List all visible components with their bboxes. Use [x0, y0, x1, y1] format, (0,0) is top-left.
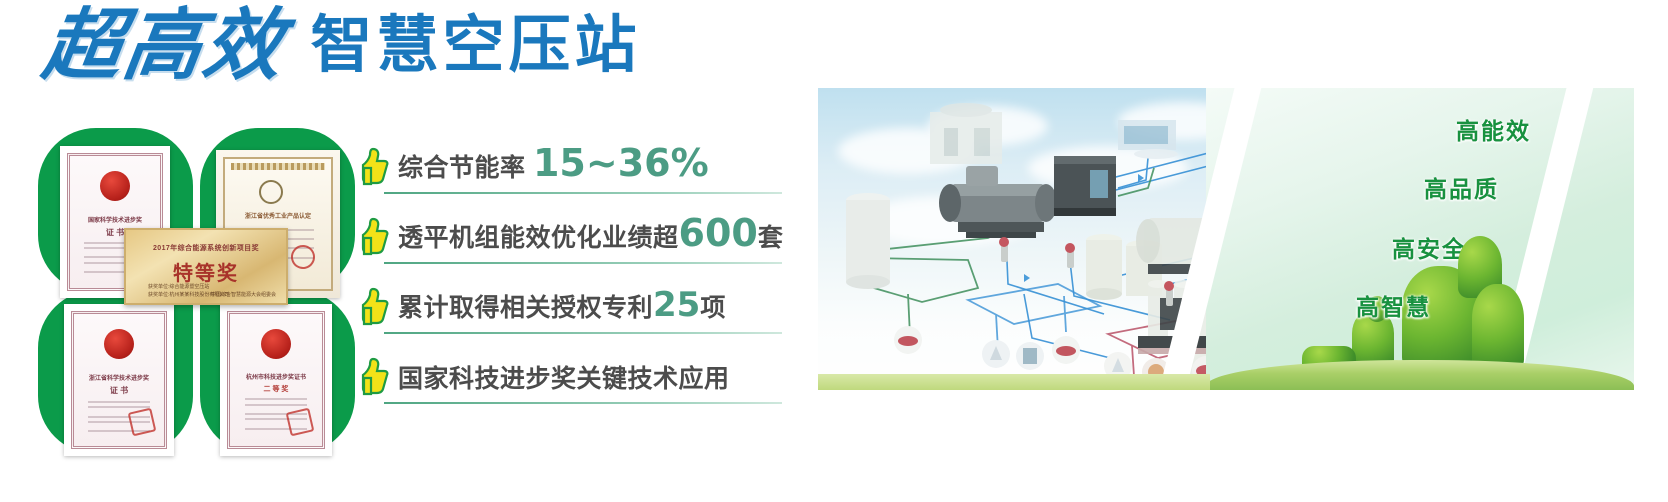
air-compressor-station-diagram: 高能效 高品质 高安全 高智慧 — [818, 88, 1634, 390]
thumbs-up-icon — [360, 356, 390, 398]
list-item-text: 累计取得相关授权专利25项 — [398, 285, 726, 325]
thumbs-up-icon — [360, 286, 390, 328]
promotional-banner: 超高效 智慧空压站 国家科学技术进步奖 证 书 浙江省优秀工业产品认定 — [0, 0, 1668, 502]
divider — [384, 402, 782, 404]
list-item: 累计取得相关授权专利25项 — [358, 266, 782, 336]
thumbs-up-icon — [360, 216, 390, 258]
list-item-number: 15~36% — [533, 141, 709, 185]
divider — [384, 332, 782, 334]
national-emblem-icon — [261, 329, 291, 359]
list-item: 国家科技进步奖关键技术应用 — [358, 336, 782, 406]
plaque-footer: 中国综合智慧能源大会组委会 — [211, 291, 276, 298]
list-item-number: 25 — [653, 285, 700, 325]
award-plaque-gold[interactable]: 2017年综合能源系统创新项目奖 特等奖 获奖单位:综合能源暨空压站 获奖单位:… — [124, 228, 288, 305]
certificate-border: 浙江省科学技术进步奖 证 书 — [71, 311, 167, 449]
headline-main: 超高效 — [39, 6, 290, 84]
certificate-border: 杭州市科技进步奖证书 二 等 奖 — [227, 311, 325, 449]
feature-list: 综合节能率 15~36% 透平机组能效优化业绩超600套 — [358, 126, 782, 406]
red-stamp-icon — [286, 408, 315, 437]
page-title: 超高效 智慧空压站 — [44, 6, 640, 84]
grass-strip — [818, 374, 1210, 390]
plaque-line-2: 特等奖 — [126, 257, 286, 286]
list-item-text: 综合节能率 15~36% — [398, 141, 709, 185]
green-label-high-safety: 高安全 — [1392, 230, 1467, 264]
green-label-high-quality: 高品质 — [1424, 170, 1499, 204]
list-item: 综合节能率 15~36% — [358, 126, 782, 196]
red-stamp-icon — [128, 408, 157, 437]
certificate-subtitle: 二 等 奖 — [230, 384, 322, 394]
quality-mark-icon — [259, 180, 283, 204]
certificate-hangzhou-progress-award[interactable]: 杭州市科技进步奖证书 二 等 奖 — [220, 304, 332, 456]
list-item-text: 透平机组能效优化业绩超600套 — [398, 211, 783, 255]
national-emblem-icon — [100, 171, 130, 201]
list-item-number: 600 — [679, 211, 758, 255]
certificate-title: 浙江省优秀工业产品认定 — [225, 211, 331, 220]
list-item-text: 国家科技进步奖关键技术应用 — [398, 359, 730, 395]
certificate-subtitle: 证 书 — [74, 385, 164, 396]
certificate-title: 浙江省科学技术进步奖 — [74, 373, 164, 382]
grass-strip — [1206, 360, 1634, 390]
divider — [384, 262, 782, 264]
green-label-high-efficiency: 高能效 — [1456, 112, 1531, 146]
list-item: 透平机组能效优化业绩超600套 — [358, 196, 782, 266]
topiary-bush-icon — [1472, 284, 1524, 370]
national-emblem-icon — [104, 329, 134, 359]
green-label-high-intelligence: 高智慧 — [1356, 288, 1431, 322]
certificate-collage: 国家科学技术进步奖 证 书 浙江省优秀工业产品认定 浙江省科学技术进步奖 — [38, 128, 358, 454]
plaque-detail-1: 获奖单位:综合能源暨空压站 — [148, 284, 209, 291]
certificate-zhejiang-science-award[interactable]: 浙江省科学技术进步奖 证 书 — [64, 304, 174, 456]
certificate-title: 杭州市科技进步奖证书 — [230, 372, 322, 381]
plaque-line-1: 2017年综合能源系统创新项目奖 — [126, 243, 286, 253]
divider — [384, 192, 782, 194]
certificate-pattern — [231, 163, 325, 170]
headline-sub: 智慧空压站 — [310, 15, 640, 77]
certificate-title: 国家科学技术进步奖 — [70, 215, 160, 224]
green-benefits-panel: 高能效 高品质 高安全 高智慧 — [1206, 88, 1634, 390]
thumbs-up-icon — [360, 146, 390, 188]
